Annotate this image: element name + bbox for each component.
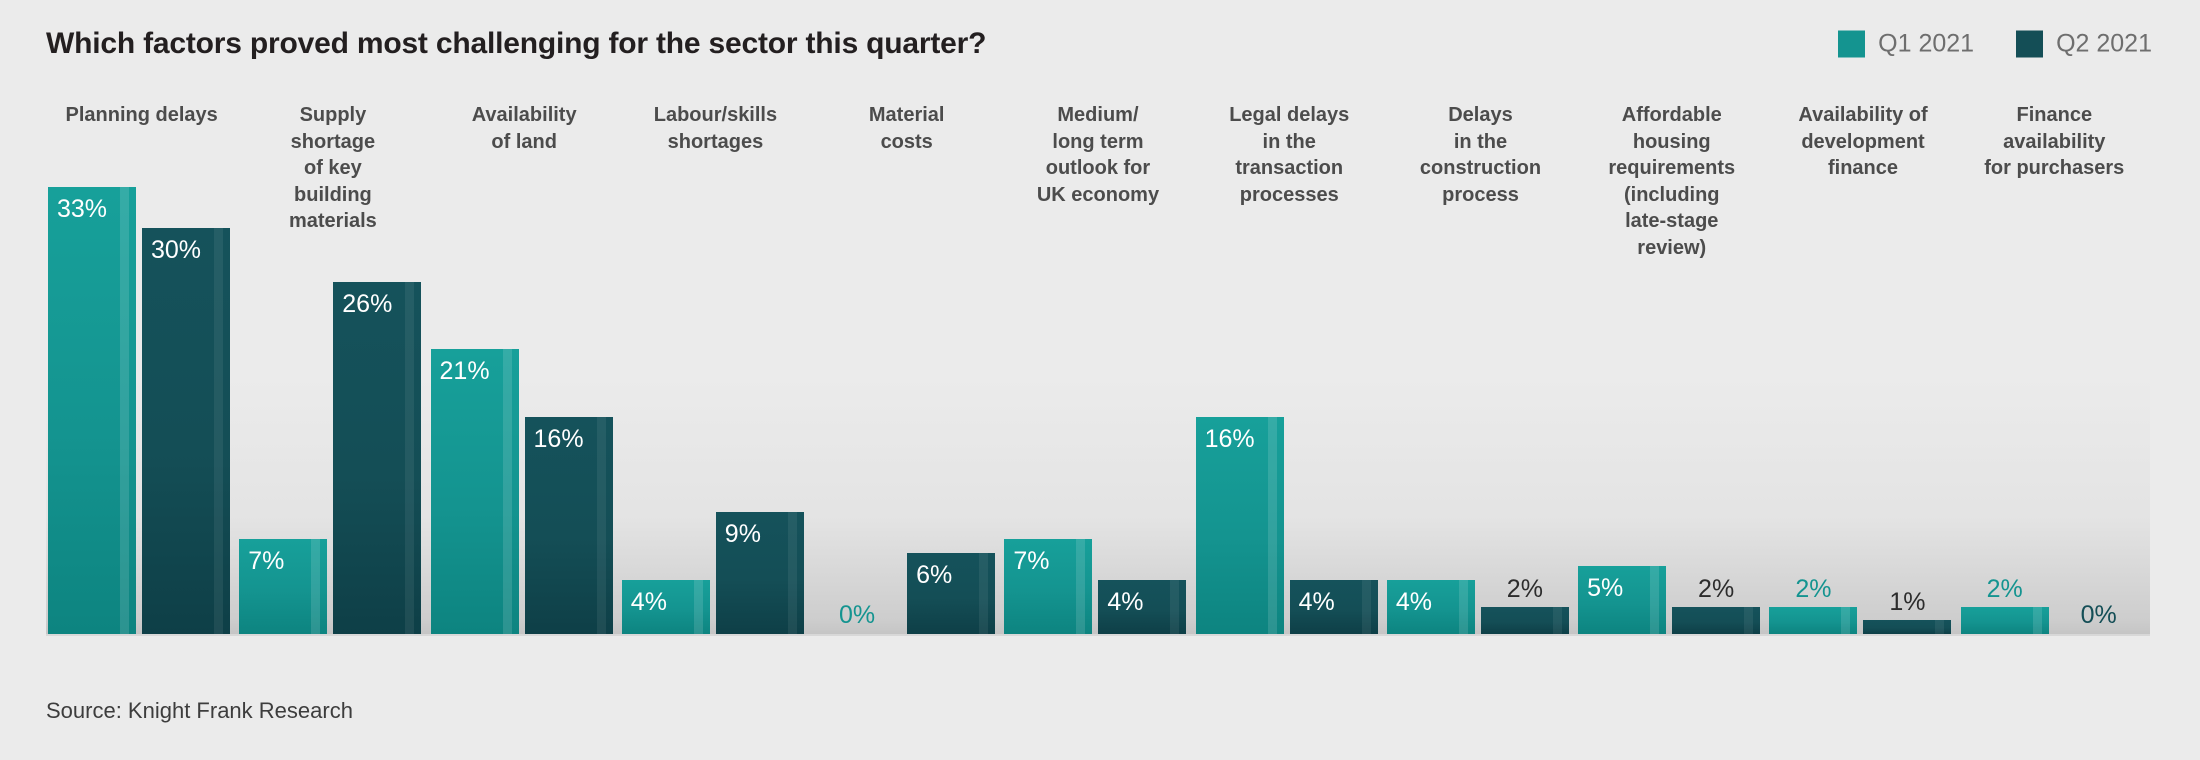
bar-q1-10[interactable]: 2% [1961, 607, 2049, 634]
bar-group: Material costs0%6% [811, 98, 1002, 634]
bar-value-label: 2% [1987, 577, 2023, 602]
bar-slot: 7% [239, 98, 327, 634]
bar-group: Medium/ long term outlook for UK economy… [1002, 98, 1193, 634]
bar-value-label: 21% [440, 359, 490, 384]
bar-q2-7[interactable]: 2% [1481, 607, 1569, 634]
bar-q2-2[interactable]: 16% [525, 417, 613, 634]
bar-slot: 0% [813, 98, 901, 634]
bar-group: Labour/skills shortages4%9% [620, 98, 811, 634]
bar-slot: 2% [1961, 98, 2049, 634]
bar-pair: 4%9% [620, 98, 811, 634]
chart-title: Which factors proved most challenging fo… [46, 27, 986, 61]
bar-value-label: 4% [631, 590, 667, 615]
bar-pair: 7%26% [237, 98, 428, 634]
bar-group: Supply shortage of key building material… [237, 98, 428, 634]
bar-value-label: 4% [1107, 590, 1143, 615]
bar-q2-5[interactable]: 4% [1098, 580, 1186, 634]
bar-q2-4[interactable]: 6% [907, 553, 995, 634]
bar-q1-6[interactable]: 16% [1196, 417, 1284, 634]
bar-value-label: 7% [1013, 549, 1049, 574]
bar-q1-7[interactable]: 4% [1387, 580, 1475, 634]
legend-item-q1[interactable]: Q1 2021 [1838, 30, 1974, 59]
bar-value-label: 16% [534, 427, 584, 452]
bar-pair: 33%30% [46, 98, 237, 634]
legend-label-q1: Q1 2021 [1878, 30, 1974, 59]
bar-slot: 9% [716, 98, 804, 634]
bar-value-label: 2% [1507, 577, 1543, 602]
bar-value-label: 16% [1205, 427, 1255, 452]
bar-slot: 2% [1481, 98, 1569, 634]
bar-q1-3[interactable]: 4% [622, 580, 710, 634]
bar-value-label: 26% [342, 292, 392, 317]
bar-slot: 5% [1578, 98, 1666, 634]
bar-slot: 7% [1004, 98, 1092, 634]
bar-slot: 33% [48, 98, 136, 634]
axis-baseline [46, 634, 2150, 636]
bar-value-label: 0% [839, 603, 875, 628]
bar-value-label: 4% [1396, 590, 1432, 615]
bar-group: Delays in the construction process4%2% [1385, 98, 1576, 634]
legend-swatch-q2-icon [2016, 31, 2043, 58]
bar-q1-8[interactable]: 5% [1578, 566, 1666, 634]
bar-groups: Planning delays33%30%Supply shortage of … [46, 98, 2150, 634]
bar-group: Availability of land21%16% [429, 98, 620, 634]
bar-slot: 4% [1290, 98, 1378, 634]
bar-slot: 4% [1387, 98, 1475, 634]
bar-value-label: 6% [916, 563, 952, 588]
chart-container: Which factors proved most challenging fo… [0, 0, 2200, 760]
bar-value-label: 0% [2081, 603, 2117, 628]
bar-slot: 16% [1196, 98, 1284, 634]
bar-pair: 5%2% [1576, 98, 1767, 634]
bar-value-label: 5% [1587, 576, 1623, 601]
bar-slot: 26% [333, 98, 421, 634]
bar-slot: 0% [2055, 98, 2143, 634]
bar-q1-5[interactable]: 7% [1004, 539, 1092, 634]
bar-q1-9[interactable]: 2% [1769, 607, 1857, 634]
bar-q1-2[interactable]: 21% [431, 349, 519, 634]
bar-group: Finance availability for purchasers2%0% [1959, 98, 2150, 634]
bar-pair: 16%4% [1194, 98, 1385, 634]
legend-swatch-q1-icon [1838, 31, 1865, 58]
bar-group: Affordable housing requirements (includi… [1576, 98, 1767, 634]
bar-q2-1[interactable]: 26% [333, 282, 421, 634]
bar-slot: 21% [431, 98, 519, 634]
bar-q2-9[interactable]: 1% [1863, 620, 1951, 634]
chart-header: Which factors proved most challenging fo… [0, 0, 2200, 96]
bar-pair: 4%2% [1385, 98, 1576, 634]
bar-slot: 2% [1769, 98, 1857, 634]
bar-group: Legal delays in the transaction processe… [1194, 98, 1385, 634]
bar-value-label: 4% [1299, 590, 1335, 615]
bar-value-label: 2% [1795, 577, 1831, 602]
legend-item-q2[interactable]: Q2 2021 [2016, 30, 2152, 59]
legend-label-q2: Q2 2021 [2056, 30, 2152, 59]
bar-group: Planning delays33%30% [46, 98, 237, 634]
bar-pair: 2%0% [1959, 98, 2150, 634]
bar-value-label: 1% [1889, 590, 1925, 615]
bar-q1-1[interactable]: 7% [239, 539, 327, 634]
chart-legend: Q1 2021 Q2 2021 [1838, 30, 2152, 59]
bar-q2-0[interactable]: 30% [142, 228, 230, 635]
bar-slot: 1% [1863, 98, 1951, 634]
bar-q1-0[interactable]: 33% [48, 187, 136, 634]
bar-pair: 21%16% [429, 98, 620, 634]
bar-slot: 4% [622, 98, 710, 634]
source-note: Source: Knight Frank Research [46, 698, 353, 724]
bar-value-label: 9% [725, 522, 761, 547]
bar-q2-8[interactable]: 2% [1672, 607, 1760, 634]
bar-value-label: 2% [1698, 577, 1734, 602]
bar-group: Availability of development finance2%1% [1767, 98, 1958, 634]
bar-pair: 0%6% [811, 98, 1002, 634]
bar-value-label: 33% [57, 197, 107, 222]
bar-value-label: 7% [248, 549, 284, 574]
bar-pair: 7%4% [1002, 98, 1193, 634]
bar-slot: 2% [1672, 98, 1760, 634]
bar-pair: 2%1% [1767, 98, 1958, 634]
bar-slot: 6% [907, 98, 995, 634]
bar-slot: 4% [1098, 98, 1186, 634]
bar-slot: 16% [525, 98, 613, 634]
bar-value-label: 30% [151, 238, 201, 263]
bar-q2-6[interactable]: 4% [1290, 580, 1378, 634]
bar-q2-3[interactable]: 9% [716, 512, 804, 634]
bar-slot: 30% [142, 98, 230, 634]
